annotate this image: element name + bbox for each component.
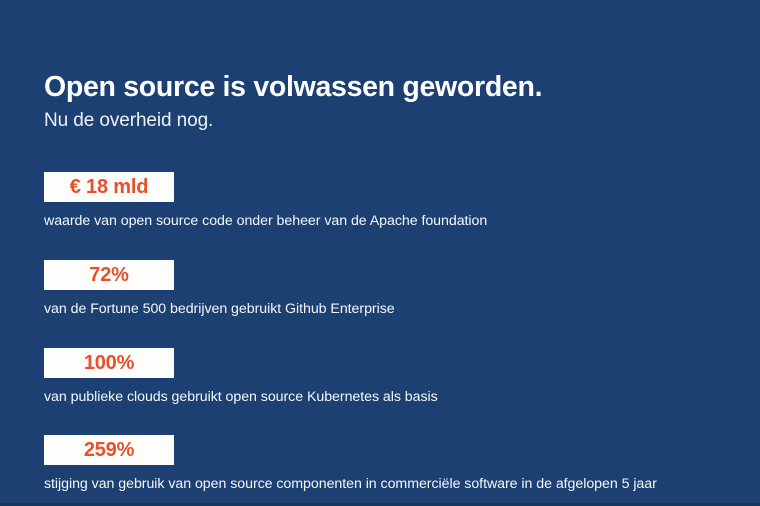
stat-badge: 100% xyxy=(44,348,174,378)
stat-value: 100% xyxy=(84,353,134,373)
stat-block: € 18 mld waarde van open source code ond… xyxy=(44,172,740,231)
stat-value: 72% xyxy=(89,265,128,285)
stat-value: 259% xyxy=(84,440,134,460)
stat-badge: 72% xyxy=(44,260,174,290)
stat-caption: stijging van gebruik van open source com… xyxy=(44,476,740,494)
stat-block: 72% van de Fortune 500 bedrijven gebruik… xyxy=(44,260,740,319)
page-title: Open source is volwassen geworden. xyxy=(44,72,730,104)
stat-value: € 18 mld xyxy=(70,177,148,197)
stats-list: € 18 mld waarde van open source code ond… xyxy=(44,172,740,494)
stat-caption: van publieke clouds gebruikt open source… xyxy=(44,389,740,407)
stat-block: 259% stijging van gebruik van open sourc… xyxy=(44,435,740,494)
stat-caption: van de Fortune 500 bedrijven gebruikt Gi… xyxy=(44,301,740,319)
stat-block: 100% van publieke clouds gebruikt open s… xyxy=(44,348,740,407)
page-subtitle: Nu de overheid nog. xyxy=(44,110,730,133)
slide-root: Open source is volwassen geworden. Nu de… xyxy=(0,0,760,506)
stat-badge: 259% xyxy=(44,435,174,465)
slide-header: Open source is volwassen geworden. Nu de… xyxy=(44,72,730,133)
stat-caption: waarde van open source code onder beheer… xyxy=(44,213,740,231)
stat-badge: € 18 mld xyxy=(44,172,174,202)
